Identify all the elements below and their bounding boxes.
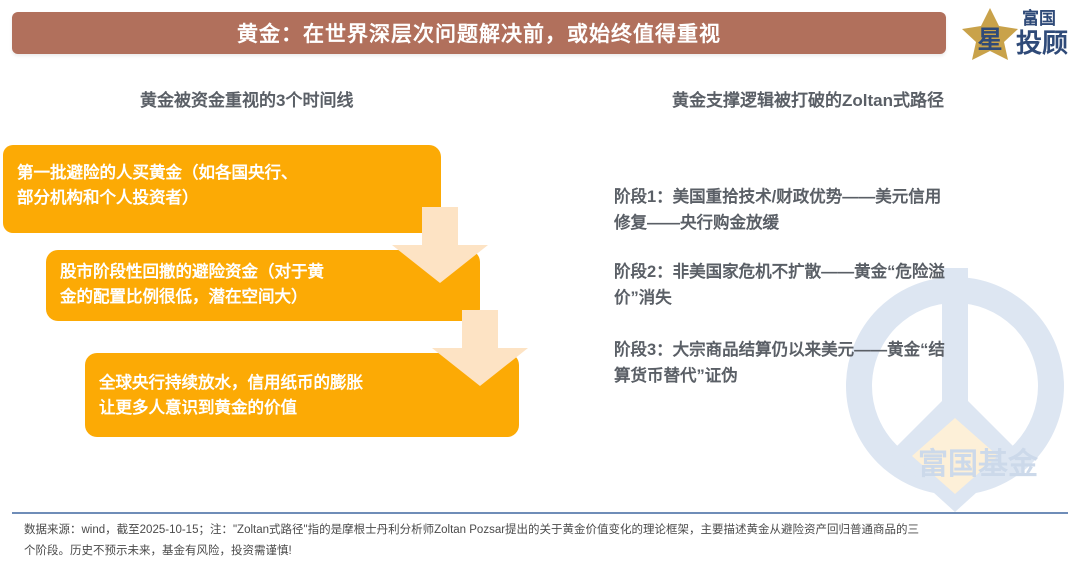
stage-3-line-2: 算货币替代”证伪 xyxy=(614,363,1038,389)
right-column-heading: 黄金支撑逻辑被打破的Zoltan式路径 xyxy=(672,86,944,111)
footer-line-1: 数据来源：wind，截至2025-10-15；注："Zoltan式路径"指的是摩… xyxy=(24,520,1064,541)
footer-disclaimer: 数据来源：wind，截至2025-10-15；注："Zoltan式路径"指的是摩… xyxy=(24,520,1064,563)
slide-canvas: 黄金：在世界深层次问题解决前，或始终值得重视 星 富国 投顾 黄金被资金重视的3… xyxy=(0,0,1080,565)
stage-1-line-2: 修复——央行购金放缓 xyxy=(614,210,1038,236)
stage-item-2: 阶段2：非美国家危机不扩散——黄金“危险溢 价”消失 xyxy=(614,259,1038,311)
footer-divider xyxy=(12,512,1068,514)
slide-title-bar: 黄金：在世界深层次问题解决前，或始终值得重视 xyxy=(12,12,946,54)
flow-box-3-line-2: 让更多人意识到黄金的价值 xyxy=(99,396,501,421)
left-column-heading: 黄金被资金重视的3个时间线 xyxy=(140,86,353,111)
stage-1-line-1: 阶段1：美国重拾技术/财政优势——美元信用 xyxy=(614,184,1038,210)
down-arrow-icon-2 xyxy=(428,310,532,388)
stage-3-line-1: 阶段3：大宗商品结算仍以来美元——黄金“结 xyxy=(614,337,1038,363)
flow-box-1-line-2: 部分机构和个人投资者） xyxy=(17,186,423,211)
page-title: 黄金：在世界深层次问题解决前，或始终值得重视 xyxy=(237,18,721,48)
flow-box-2-line-2: 金的配置比例很低，潜在空间大） xyxy=(60,285,462,310)
footer-line-2: 个阶段。历史不预示未来，基金有风险，投资需谨慎! xyxy=(24,541,1064,562)
stage-2-line-2: 价”消失 xyxy=(614,285,1038,311)
fuguo-star-advisor-logo: 星 富国 投顾 xyxy=(960,4,1076,62)
svg-text:富国: 富国 xyxy=(1022,8,1056,28)
stage-2-line-1: 阶段2：非美国家危机不扩散——黄金“危险溢 xyxy=(614,259,1038,285)
flow-box-timeline-1: 第一批避险的人买黄金（如各国央行、 部分机构和个人投资者） xyxy=(3,145,441,233)
watermark-text: 富国基金 xyxy=(918,447,1039,481)
down-arrow-icon-1 xyxy=(388,207,492,285)
flow-box-1-line-1: 第一批避险的人买黄金（如各国央行、 xyxy=(17,161,423,186)
stage-item-3: 阶段3：大宗商品结算仍以来美元——黄金“结 算货币替代”证伪 xyxy=(614,337,1038,389)
svg-text:投顾: 投顾 xyxy=(1016,28,1068,58)
svg-text:星: 星 xyxy=(977,26,1002,54)
stage-item-1: 阶段1：美国重拾技术/财政优势——美元信用 修复——央行购金放缓 xyxy=(614,184,1038,236)
